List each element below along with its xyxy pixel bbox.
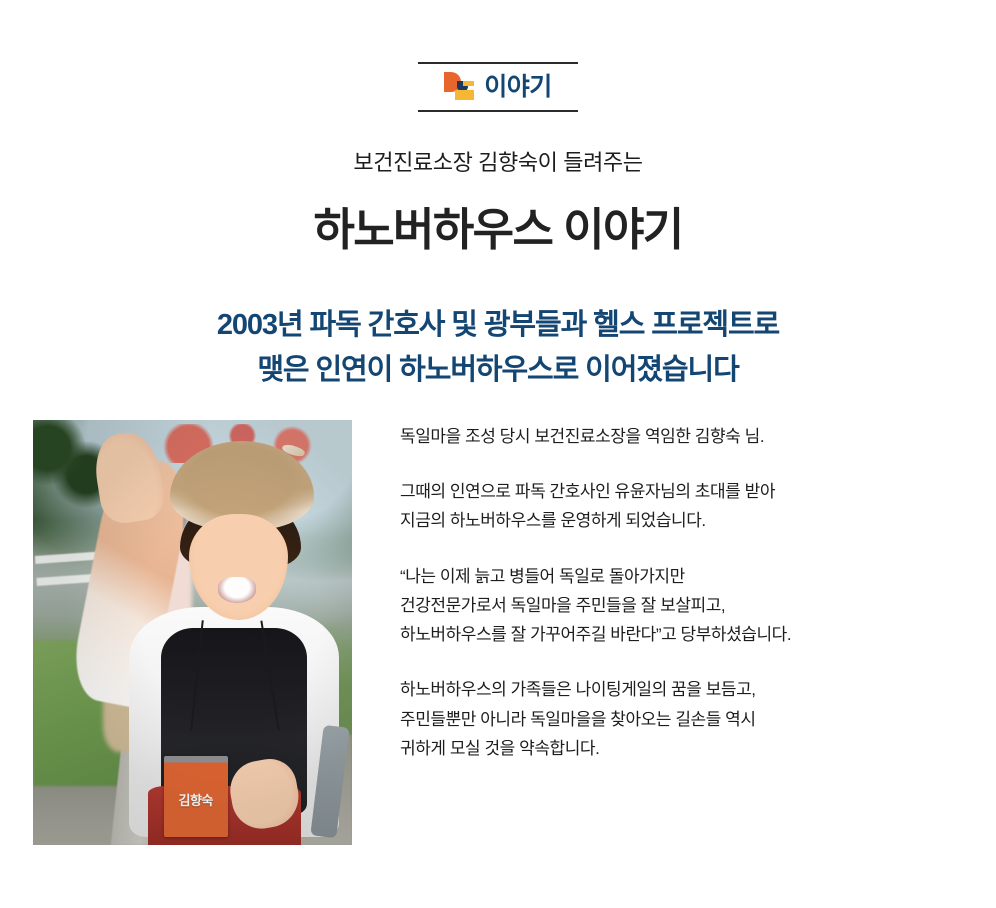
body-line: 하노버하우스의 가족들은 나이팅게일의 꿈을 보듬고,: [400, 675, 960, 704]
body-paragraph-3-quote: “나는 이제 늙고 병들어 독일로 돌아가지만 건강전문가로서 독일마을 주민들…: [400, 562, 960, 650]
subtitle-line-1: 2003년 파독 간호사 및 광부들과 헬스 프로젝트로: [0, 303, 996, 348]
subtitle-line-2: 맺은 인연이 하노버하우스로 이어졌습니다: [0, 348, 996, 393]
brand-row: 이야기: [418, 64, 578, 110]
photo-smile: [218, 577, 256, 603]
story-photo: 김향숙: [33, 420, 352, 845]
photo-face: [189, 514, 288, 620]
story-body: 독일마을 조성 당시 보건진료소장을 역임한 김향숙 님. 그때의 인연으로 파…: [400, 422, 960, 763]
body-line: 하노버하우스를 잘 가꾸어주길 바란다”고 당부하셨습니다.: [400, 620, 960, 649]
body-line: 건강전문가로서 독일마을 주민들을 잘 보살피고,: [400, 591, 960, 620]
body-paragraph-1: 독일마을 조성 당시 보건진료소장을 역임한 김향숙 님.: [400, 422, 960, 451]
body-line: 지금의 하노버하우스를 운영하게 되었습니다.: [400, 506, 960, 535]
brand-wordmark: 이야기: [484, 75, 552, 100]
photo-scene: 김향숙: [33, 420, 352, 845]
brand-rule-bottom: [418, 110, 578, 112]
body-paragraph-4: 하노버하우스의 가족들은 나이팅게일의 꿈을 보듬고, 주민들뿐만 아니라 독일…: [400, 675, 960, 763]
brand-block: 이야기: [418, 62, 578, 112]
body-line: “나는 이제 늙고 병들어 독일로 돌아가지만: [400, 562, 960, 591]
story-logo-icon: [444, 72, 475, 102]
body-line: 그때의 인연으로 파독 간호사인 유윤자님의 초대를 받아: [400, 477, 960, 506]
body-paragraph-2: 그때의 인연으로 파독 간호사인 유윤자님의 초대를 받아 지금의 하노버하우스…: [400, 477, 960, 535]
photo-name-badge: 김향숙: [164, 756, 228, 837]
photo-name-badge-label: 김향숙: [178, 790, 212, 809]
body-line: 귀하게 모실 것을 약속합니다.: [400, 734, 960, 763]
body-line: 주민들뿐만 아니라 독일마을을 찾아오는 길손들 역시: [400, 705, 960, 734]
story-page: 이야기 보건진료소장 김향숙이 들려주는 하노버하우스 이야기 2003년 파독…: [0, 0, 996, 908]
page-title: 하노버하우스 이야기: [0, 203, 996, 257]
logo-amber-top-shape: [463, 81, 474, 86]
page-subtitle: 2003년 파독 간호사 및 광부들과 헬스 프로젝트로 맺은 인연이 하노버하…: [0, 303, 996, 393]
body-line: 독일마을 조성 당시 보건진료소장을 역임한 김향숙 님.: [400, 422, 960, 451]
page-kicker: 보건진료소장 김향숙이 들려주는: [0, 145, 996, 177]
logo-amber-bottom-shape: [455, 90, 474, 100]
